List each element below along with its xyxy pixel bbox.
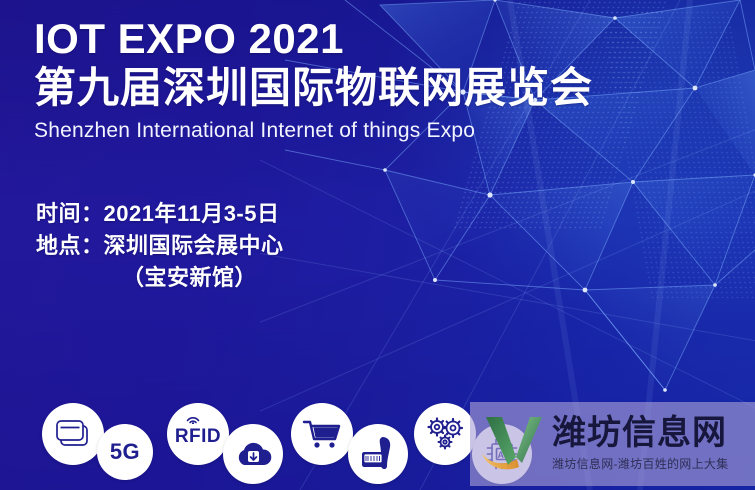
headline-chinese: 第九届深圳国际物联网展览会	[34, 64, 593, 111]
barcode-scanner-icon	[348, 424, 408, 484]
event-info-block: 时间：2021年11月3-5日 地点：深圳国际会展中心 （宝安新馆）	[36, 198, 284, 294]
cloud-download-icon	[223, 424, 283, 484]
5g-label: 5G	[110, 439, 140, 465]
watermark-subtitle: 潍坊信息网-潍坊百姓的网上大集	[552, 455, 729, 472]
shopping-cart-icon	[291, 403, 353, 465]
subtitle-english: Shenzhen International Internet of thing…	[34, 119, 593, 142]
event-venue-hall-line: （宝安新馆）	[36, 262, 284, 294]
5g-icon: 5G	[97, 424, 153, 480]
expo-poster: IOT EXPO 2021 第九届深圳国际物联网展览会 Shenzhen Int…	[0, 0, 755, 490]
event-date-line: 时间：2021年11月3-5日	[36, 198, 284, 230]
watermark-title: 潍坊信息网	[552, 416, 729, 452]
event-venue-line: 地点：深圳国际会展中心	[36, 230, 284, 262]
headline-english: IOT EXPO 2021	[34, 18, 593, 60]
stacked-cards-icon	[42, 403, 104, 465]
poster-headline-block: IOT EXPO 2021 第九届深圳国际物联网展览会 Shenzhen Int…	[34, 18, 593, 142]
watermark-text-block: 潍坊信息网 潍坊信息网-潍坊百姓的网上大集	[552, 416, 729, 472]
gears-icon	[414, 403, 476, 465]
watermark-overlay: 潍坊信息网 潍坊信息网-潍坊百姓的网上大集	[470, 402, 755, 486]
watermark-logo-icon	[472, 405, 550, 483]
rfid-label: RFID	[175, 426, 221, 448]
rfid-icon: RFID	[167, 403, 229, 465]
